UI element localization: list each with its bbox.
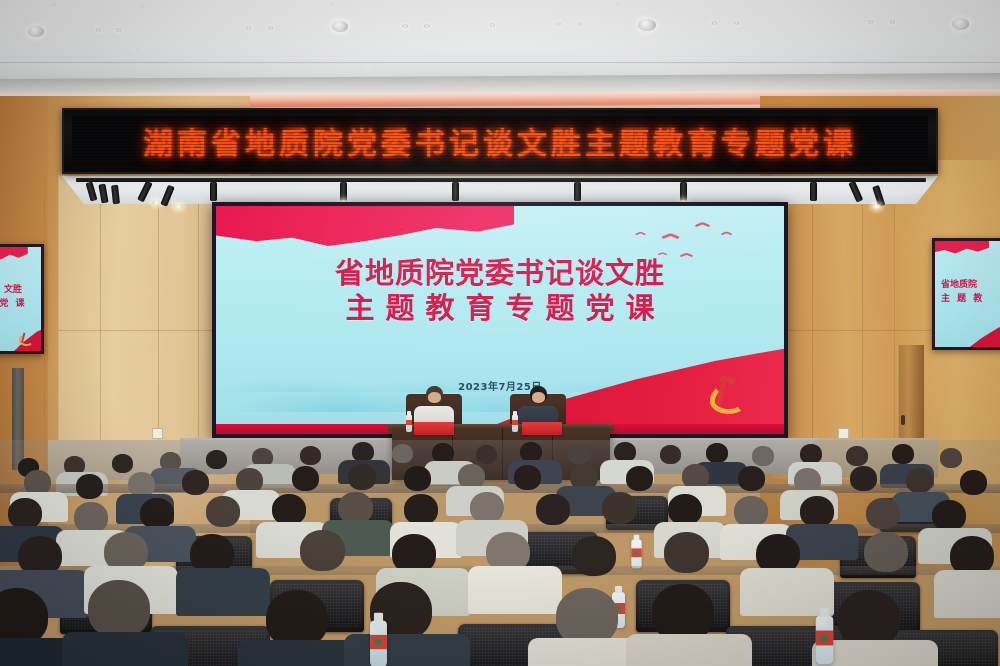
audience-head [800,496,834,527]
panel-seam [44,176,45,476]
audience-head [846,446,868,466]
track-spotlight [210,182,217,201]
ceiling-vent-dot [598,64,602,67]
bird-icon [635,233,645,239]
led-banner-panel: 湖南省地质院党委书记谈文胜主题教育专题党课 [72,116,928,166]
audience-torso [344,634,470,666]
ceiling-vent-dot [136,48,140,51]
audience-head [800,444,822,464]
downlight-small [268,26,273,30]
audience-head [140,498,174,529]
water-bottle [370,621,387,666]
audience-head [734,496,768,527]
side-monitor-right-text: 省地质院 主 题 教 [935,279,1000,306]
side-monitor-left-text: 文胜 党 课 [0,284,41,311]
audience-head [940,448,962,468]
screen-red-wave [935,241,989,261]
track-spotlight [680,182,687,201]
name-placard [522,422,562,435]
audience-head [348,464,376,490]
audience-head [8,498,42,529]
side-monitor-left-line2: 党 课 [0,298,41,312]
audience-head [404,494,438,525]
audience-head [74,502,108,533]
panel-seam [100,176,101,474]
downlight [28,26,44,37]
downlight-small [578,22,583,26]
audience-head [572,536,616,576]
led-banner-text: 湖南省地质院党委书记谈文胜主题教育专题党课 [143,119,857,163]
audience-head [76,474,103,499]
audience-head [706,443,728,463]
audience-head [292,466,319,491]
panel-seam [862,168,863,480]
ceiling-seam [0,62,1000,63]
audience-head [112,454,133,473]
audience-head [520,442,542,462]
side-monitor-right-screen: 省地质院 主 题 教 [935,241,1000,347]
audience-torso [468,566,562,614]
audience-head [602,492,637,524]
water-bottle [631,540,641,569]
water-bottle [816,616,834,665]
audience-torso [626,634,752,666]
bird-icon [721,233,732,239]
audience-head [664,532,709,573]
audience-head [432,443,454,463]
spotlight-lens-icon [872,204,881,209]
audience-head [932,500,966,531]
side-monitor-right: 省地质院 主 题 教 [932,238,1000,350]
audience-head [668,494,702,525]
audience-area [0,440,1000,666]
downlight-small [402,24,408,28]
ceiling-vent-dot [862,46,866,49]
water-bottle [406,415,412,432]
ceiling-vent-dot [330,2,334,6]
lighting-track-rail [76,178,926,182]
screen-red-wave [0,247,28,267]
downlight-small [116,28,121,32]
downlight [638,19,656,31]
side-monitor-left: 文胜 党 课 [0,244,44,354]
wall-panel-right [770,170,895,480]
downlight-small [712,21,717,25]
water-bottle [512,415,518,432]
audience-head [392,444,413,463]
audience-head [300,530,345,571]
downlight-small [246,26,251,30]
downlight-small [424,24,430,28]
screen-title: 省地质院党委书记谈文胜 主题教育专题党课 [216,256,784,327]
downlight [952,18,969,30]
side-monitor-left-line1: 文胜 [4,285,22,295]
name-placard [414,422,454,435]
track-spotlight [340,182,347,201]
downlight-small [734,21,739,25]
track-spotlight [810,182,817,201]
downlight-small [556,22,561,26]
conference-hall-photo: 湖南省地质院党委书记谈文胜主题教育专题党课 文胜 党 课 省地质院 主 题 教 [0,0,1000,666]
screen-title-line1: 省地质院党委书记谈文胜 [216,256,784,291]
audience-head [614,442,636,462]
panel-seam [770,330,940,331]
audience-head [866,498,900,529]
speaker-face [532,392,545,403]
audience-head [960,470,987,495]
panel-seam [198,176,199,474]
audience-head [892,444,914,464]
audience-torso [934,570,1000,618]
ceiling-vent-dot [824,62,828,65]
main-led-screen: 省地质院党委书记谈文胜 主题教育专题党课 2023年7月25日 [216,206,784,434]
audience-head [626,466,653,491]
audience-head [738,466,765,491]
audience-head [206,496,240,527]
audience-head [906,468,933,493]
wall-panel-left [58,175,228,475]
panel-seam [812,170,813,480]
ceiling-vent-dot [616,2,620,6]
downlight-small [868,20,873,24]
audience-head [752,446,774,466]
downlight-small [490,23,495,27]
downlight-small [890,20,895,24]
downlight-small [96,28,101,32]
main-led-screen-frame: 省地质院党委书记谈文胜 主题教育专题党课 2023年7月25日 [212,202,788,438]
communist-party-emblem-icon [16,328,37,345]
audience-head [470,492,504,523]
ceiling-vent-dot [366,66,370,69]
screen-title-line2: 主题教育专题党课 [227,291,784,326]
downlight [332,21,348,32]
audience-torso [62,632,188,666]
audience-torso [176,568,270,616]
track-spotlight [574,182,581,201]
audience-head [272,494,306,525]
audience-head [850,466,877,491]
audience-head [568,444,590,464]
track-spotlight [452,182,459,201]
audience-head [206,450,227,469]
ceiling-vent-dot [52,3,56,7]
audience-head [300,446,321,465]
audience-head [352,442,374,462]
spotlight-lens-icon [152,200,161,205]
panel-seam [58,330,228,331]
ceiling-vent-dot [140,66,144,69]
screen-red-sweep [962,323,1000,347]
audience-head [182,470,209,495]
led-banner: 湖南省地质院党委书记谈文胜主题教育专题党课 [62,108,938,174]
speaker-face [428,392,441,403]
bird-icon [695,223,710,231]
side-monitor-right-line2: 主 题 教 [941,293,1000,307]
wall-switch[interactable] [152,428,163,439]
side-monitor-left-screen: 文胜 党 课 [0,247,41,351]
audience-head [476,445,497,464]
audience-head [514,465,541,490]
audience-head [864,532,908,572]
audience-head [404,466,431,491]
door-handle-icon[interactable] [901,415,905,425]
audience-head [88,580,150,638]
audience-head [536,494,570,525]
bird-icon [662,235,680,244]
audience-head [660,445,681,464]
spotlight-lens-icon [174,204,183,209]
side-monitor-right-line1: 省地质院 [941,280,977,290]
ceiling-vent-dot [140,4,144,8]
